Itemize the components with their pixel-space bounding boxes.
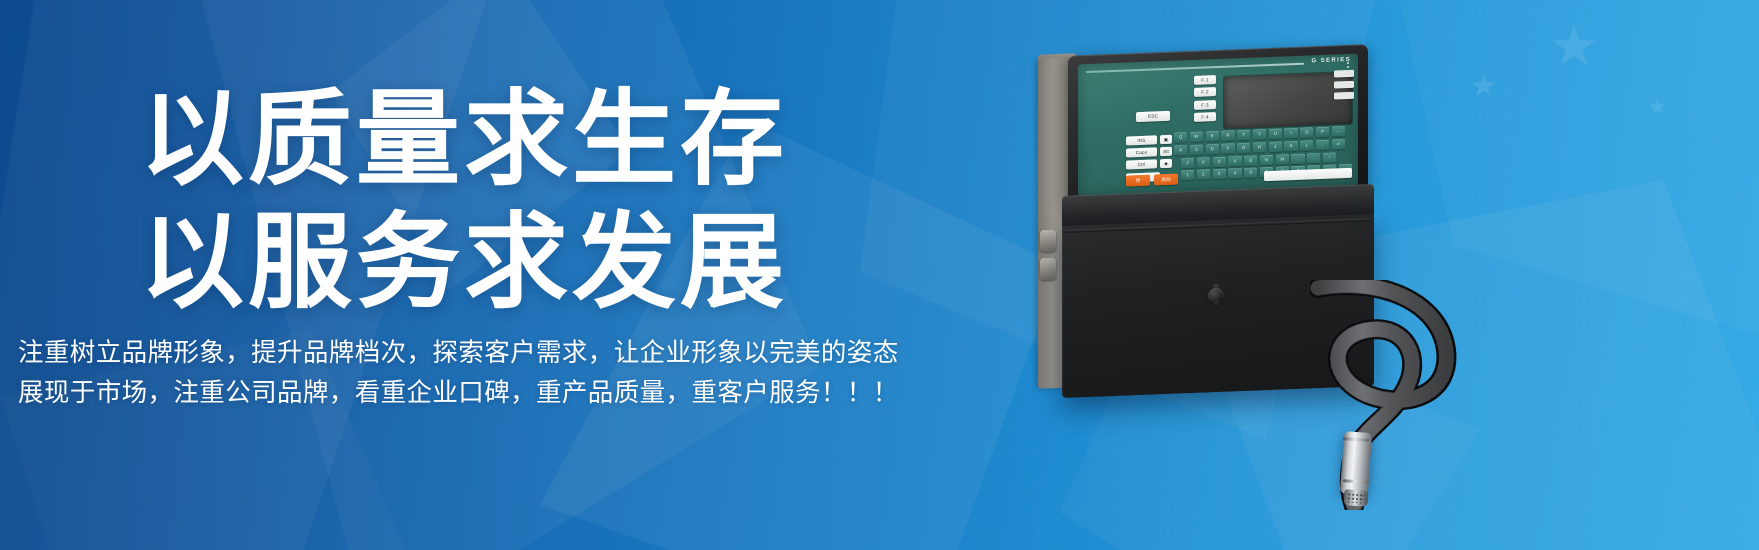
- key-0-7[interactable]: I: [1284, 128, 1297, 139]
- key-3-3[interactable]: 4: [1228, 168, 1241, 179]
- function-key-f3[interactable]: F·3: [1194, 100, 1216, 110]
- key-2-6[interactable]: M: [1276, 154, 1289, 165]
- key-1-5[interactable]: H: [1253, 142, 1266, 153]
- key-3-0[interactable]: 1: [1181, 170, 1194, 181]
- headline-line-1: 以质量求生存: [140, 78, 900, 201]
- key-1-7[interactable]: K: [1284, 141, 1297, 152]
- key-2-4[interactable]: B: [1244, 155, 1257, 166]
- panel-button-stop[interactable]: [1334, 81, 1354, 89]
- key-0-4[interactable]: T: [1237, 130, 1250, 141]
- key-2-8[interactable]: .: [1307, 153, 1320, 164]
- key-3-2[interactable]: 3: [1213, 169, 1226, 180]
- space-key[interactable]: [1264, 168, 1352, 181]
- headline-line-2: 以服务求发展: [140, 201, 900, 324]
- panel-right-button-group: [1334, 70, 1354, 104]
- hinge-lower: [1040, 258, 1056, 280]
- key-0-1[interactable]: W: [1190, 132, 1203, 143]
- key-0-10[interactable]: ←: [1332, 126, 1345, 137]
- key-1-3[interactable]: F: [1221, 143, 1234, 154]
- control-panel-bezel: G SERIES F·1 F·2 F·3 F·4 ESC INS ▣ Caps: [1068, 44, 1368, 206]
- function-key-f4[interactable]: F·4: [1194, 112, 1216, 122]
- key-0-0[interactable]: Q: [1174, 132, 1187, 143]
- key-2-1[interactable]: X: [1197, 157, 1210, 168]
- function-key-column: F·1 F·2 F·3 F·4: [1194, 75, 1216, 125]
- key-2-0[interactable]: Z: [1181, 158, 1194, 169]
- key-1-10[interactable]: ↵: [1332, 139, 1345, 150]
- alt-small-key[interactable]: Alt: [1160, 147, 1172, 156]
- key-0-8[interactable]: O: [1300, 127, 1313, 138]
- key-1-9[interactable]: ;: [1316, 140, 1329, 151]
- caps-key[interactable]: Caps: [1126, 148, 1157, 158]
- function-key-f1[interactable]: F·1: [1194, 75, 1216, 85]
- key-2-5[interactable]: N: [1260, 154, 1273, 165]
- key-0-9[interactable]: P: [1316, 127, 1329, 138]
- panel-top-rule: [1086, 63, 1304, 73]
- headline: 以质量求生存 以服务求发展: [140, 78, 900, 323]
- key-2-7[interactable]: ,: [1291, 153, 1304, 164]
- cabinet-latch[interactable]: [1206, 286, 1226, 309]
- ctrl-key[interactable]: Ctrl: [1126, 160, 1157, 170]
- subtitle-line-2: 展现于市场，注重公司品牌，看重企业口碑，重产品质量，重客户服务！！！: [18, 372, 968, 409]
- stop-key[interactable]: 停: [1126, 175, 1150, 187]
- subtitle-line-1: 注重树立品牌形象，提升品牌档次，探索客户需求，让企业形象以完美的姿态: [18, 332, 968, 369]
- ins-key[interactable]: INS: [1126, 135, 1157, 145]
- esc-key[interactable]: ESC: [1136, 111, 1170, 122]
- key-1-4[interactable]: G: [1237, 143, 1250, 154]
- function-key-f2[interactable]: F·2: [1194, 87, 1216, 97]
- key-0-6[interactable]: U: [1269, 129, 1282, 140]
- fn-small-key[interactable]: ◆: [1160, 159, 1172, 168]
- key-3-4[interactable]: 5: [1244, 168, 1257, 179]
- print-head-nozzle: [1336, 424, 1376, 510]
- key-0-3[interactable]: R: [1221, 130, 1234, 141]
- copy-block: 以质量求生存 以服务求发展 注重树立品牌形象，提升品牌档次，探索客户需求，让企业…: [0, 0, 1000, 550]
- lcd-screen: [1224, 72, 1352, 129]
- menu-small-key[interactable]: ▣: [1160, 135, 1172, 144]
- key-1-2[interactable]: D: [1206, 144, 1219, 155]
- key-1-8[interactable]: L: [1300, 140, 1313, 151]
- key-0-2[interactable]: E: [1206, 131, 1219, 142]
- key-0-5[interactable]: Y: [1253, 129, 1266, 140]
- key-1-6[interactable]: J: [1269, 141, 1282, 152]
- hinge-upper: [1040, 230, 1056, 252]
- status-led-dots: [1347, 62, 1349, 74]
- panel-button-start[interactable]: [1334, 70, 1354, 78]
- product-inkjet-coder: G SERIES F·1 F·2 F·3 F·4 ESC INS ▣ Caps: [1010, 44, 1480, 514]
- control-panel: G SERIES F·1 F·2 F·3 F·4 ESC INS ▣ Caps: [1078, 54, 1358, 197]
- key-1-0[interactable]: A: [1174, 145, 1187, 156]
- key-2-9[interactable]: ↑: [1323, 152, 1336, 163]
- key-3-1[interactable]: 2: [1197, 170, 1210, 181]
- start-key[interactable]: 启动: [1154, 174, 1178, 186]
- key-2-3[interactable]: V: [1228, 156, 1241, 167]
- nozzle-grill: [1347, 492, 1366, 503]
- latch-tail: [1214, 300, 1219, 309]
- key-2-2[interactable]: C: [1213, 156, 1226, 167]
- panel-brand-label: G SERIES: [1311, 57, 1351, 65]
- panel-button-menu[interactable]: [1334, 92, 1354, 100]
- promo-banner: ★ ★ ★ 以质量求生存 以服务求发展 注重树立品牌形象，提升品牌档次，探索客户…: [0, 0, 1759, 550]
- key-1-1[interactable]: S: [1190, 144, 1203, 155]
